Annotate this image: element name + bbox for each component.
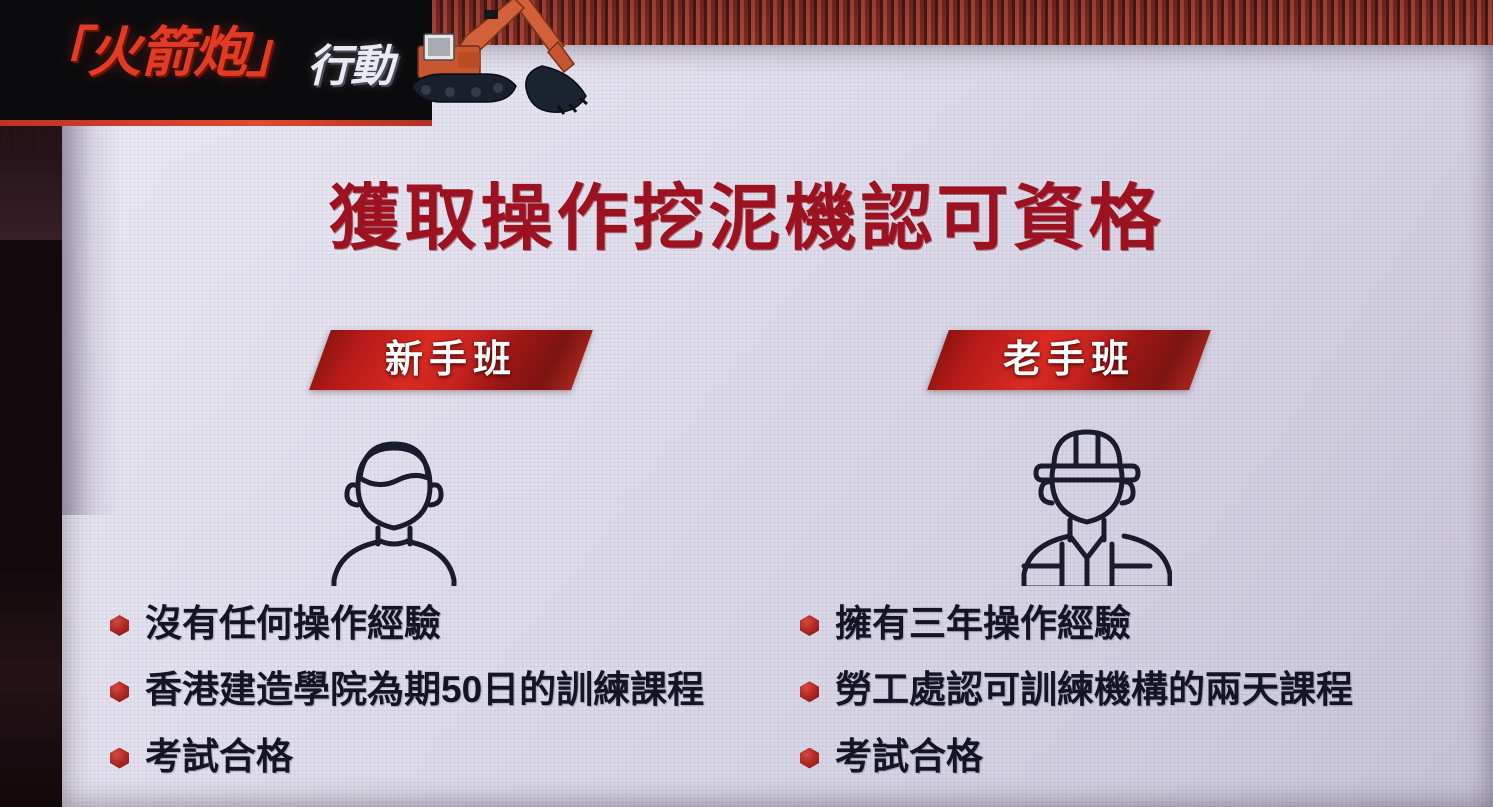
- ribbon-wrap-right: 老手班: [762, 330, 1462, 394]
- list-item: 擁有三年操作經驗: [762, 601, 1462, 647]
- campaign-title: 「火箭炮」行動: [34, 26, 393, 80]
- list-item: 勞工處認可訓練機構的兩天課程: [762, 667, 1462, 713]
- bullet-text: 考試合格: [835, 734, 983, 780]
- hexagon-bullet-icon: [800, 681, 819, 702]
- hexagon-bullet-icon: [800, 615, 819, 636]
- construction-worker-helmet-icon: [1002, 416, 1172, 586]
- hexagon-bullet-icon: [800, 748, 819, 769]
- campaign-title-action: 行動: [307, 42, 393, 91]
- bullet-text: 擁有三年操作經驗: [835, 601, 1131, 647]
- campaign-header-banner: 「火箭炮」行動: [0, 0, 432, 122]
- hexagon-bullet-icon: [110, 615, 129, 636]
- list-item: 考試合格: [762, 734, 1462, 780]
- list-item: 香港建造學院為期50日的訓練課程: [62, 667, 762, 713]
- person-no-helmet-icon: [314, 416, 474, 586]
- bullet-list-beginner: 沒有任何操作經驗 香港建造學院為期50日的訓練課程 考試合格: [62, 601, 762, 780]
- slide-main-title: 獲取操作挖泥機認可資格: [0, 183, 1493, 255]
- bullet-text: 勞工處認可訓練機構的兩天課程: [835, 667, 1353, 713]
- campaign-title-mark: 「火箭炮」: [34, 23, 299, 83]
- bullet-text: 考試合格: [145, 734, 293, 780]
- column-experienced: 老手班: [762, 330, 1462, 800]
- ribbon-wrap-left: 新手班: [62, 330, 762, 394]
- excavator-icon: [392, 0, 602, 126]
- column-beginner: 新手班 沒有任何操作經驗: [62, 330, 762, 800]
- list-item: 沒有任何操作經驗: [62, 601, 762, 647]
- ribbon-label-beginner: 新手班: [320, 330, 582, 390]
- bullet-text: 香港建造學院為期50日的訓練課程: [145, 667, 704, 713]
- header-red-underline: [0, 120, 432, 126]
- avatar-beginner: [62, 416, 762, 591]
- hexagon-bullet-icon: [110, 681, 129, 702]
- stage-backdrop: 「火箭炮」行動 獲取操作挖泥機認可資格: [0, 0, 1493, 807]
- list-item: 考試合格: [62, 734, 762, 780]
- bullet-text: 沒有任何操作經驗: [145, 601, 441, 647]
- hexagon-bullet-icon: [110, 748, 129, 769]
- ribbon-label-experienced: 老手班: [938, 330, 1200, 390]
- bullet-list-experienced: 擁有三年操作經驗 勞工處認可訓練機構的兩天課程 考試合格: [762, 601, 1462, 780]
- avatar-experienced: [762, 416, 1462, 591]
